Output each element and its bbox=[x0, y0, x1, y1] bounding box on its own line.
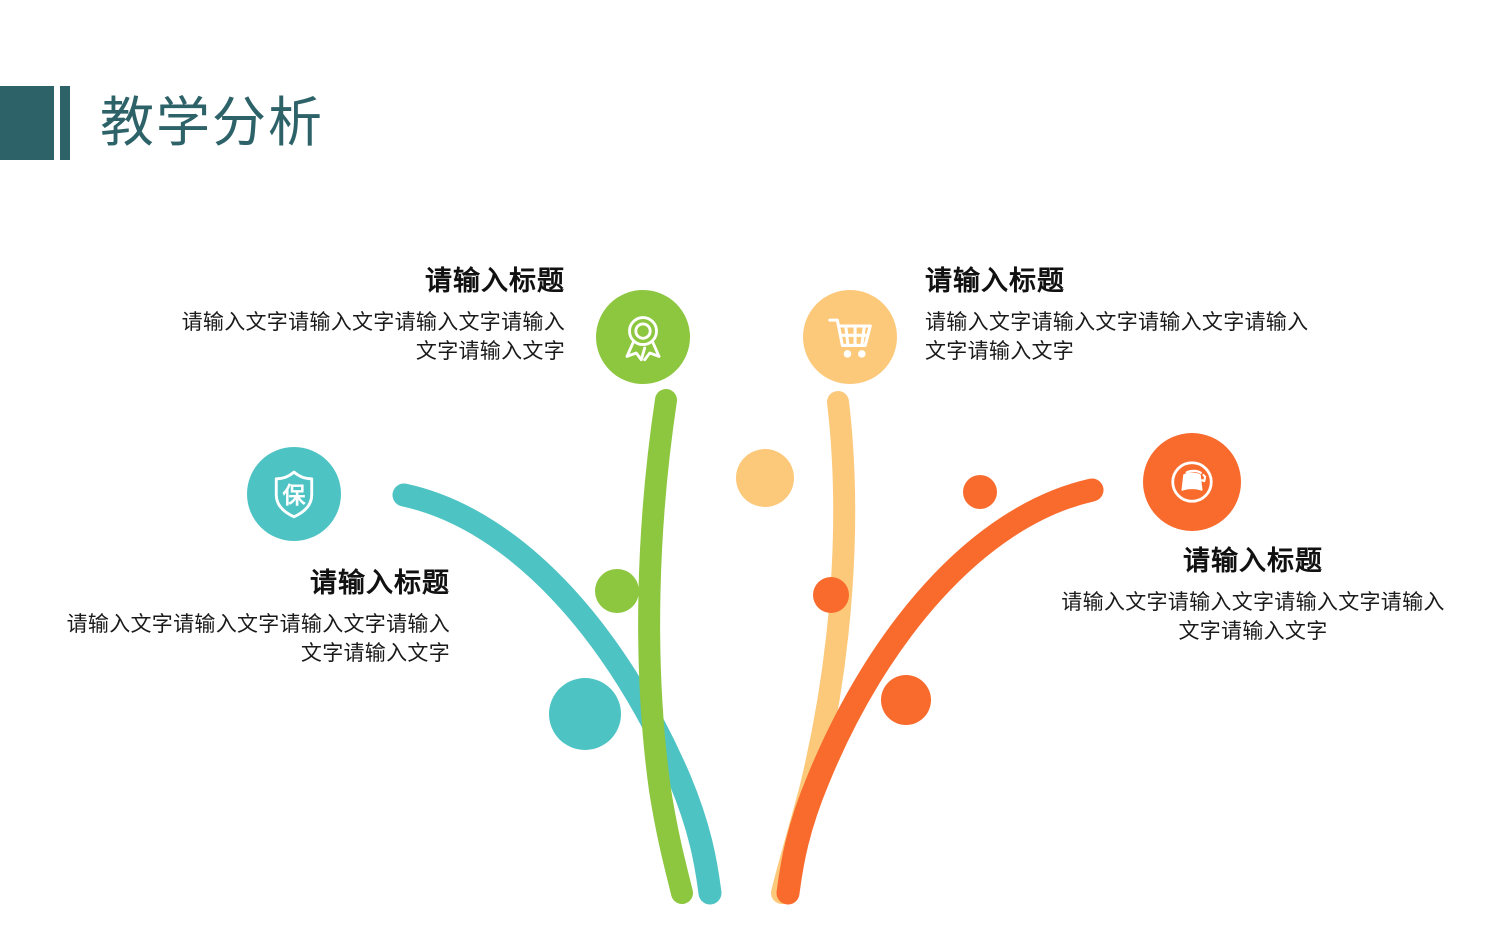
callout-top-right: 请输入标题 请输入文字请输入文字请输入文字请输入文字请输入文字 bbox=[925, 265, 1315, 367]
callout-bottom-left: 请输入标题 请输入文字请输入文字请输入文字请输入文字请输入文字 bbox=[60, 567, 450, 669]
callout-top-left: 请输入标题 请输入文字请输入文字请输入文字请输入文字请输入文字 bbox=[180, 265, 565, 367]
shopping-cart-icon bbox=[823, 310, 877, 364]
dot-orange-tiny bbox=[963, 475, 997, 509]
callout-body: 请输入文字请输入文字请输入文字请输入文字请输入文字 bbox=[60, 611, 450, 669]
slide-canvas: 教学分析 bbox=[0, 0, 1500, 938]
dot-teal-large bbox=[549, 678, 621, 750]
badge-shopping-cart[interactable] bbox=[803, 290, 897, 384]
title-accent-bar bbox=[60, 86, 70, 160]
page-title-group: 教学分析 bbox=[0, 84, 324, 162]
stem-teal bbox=[404, 495, 710, 893]
callout-body: 请输入文字请输入文字请输入文字请输入文字请输入文字 bbox=[925, 309, 1315, 367]
badge-shield-bao[interactable]: 保 bbox=[247, 447, 341, 541]
callout-title: 请输入标题 bbox=[925, 265, 1315, 297]
dot-peach-large bbox=[736, 449, 794, 507]
title-accent-block bbox=[0, 86, 54, 160]
callout-title: 请输入标题 bbox=[60, 567, 450, 599]
paint-bucket-icon bbox=[1164, 454, 1220, 510]
shield-glyph: 保 bbox=[267, 467, 321, 521]
dot-orange-small bbox=[813, 577, 849, 613]
award-ribbon-icon bbox=[616, 310, 670, 364]
callout-body: 请输入文字请输入文字请输入文字请输入文字请输入文字 bbox=[1053, 589, 1453, 647]
stem-orange bbox=[788, 490, 1092, 893]
callout-title: 请输入标题 bbox=[180, 265, 565, 297]
shield-bao-icon: 保 bbox=[267, 467, 321, 521]
callout-bottom-right: 请输入标题 请输入文字请输入文字请输入文字请输入文字请输入文字 bbox=[1053, 545, 1453, 647]
stem-peach bbox=[782, 402, 844, 893]
page-title: 教学分析 bbox=[100, 96, 324, 150]
stem-green bbox=[649, 400, 682, 893]
dot-orange-large bbox=[881, 675, 931, 725]
badge-paint-bucket[interactable] bbox=[1143, 433, 1241, 531]
dot-green-small bbox=[595, 569, 639, 613]
callout-title: 请输入标题 bbox=[1053, 545, 1453, 577]
badge-award-ribbon[interactable] bbox=[596, 290, 690, 384]
callout-body: 请输入文字请输入文字请输入文字请输入文字请输入文字 bbox=[180, 309, 565, 367]
